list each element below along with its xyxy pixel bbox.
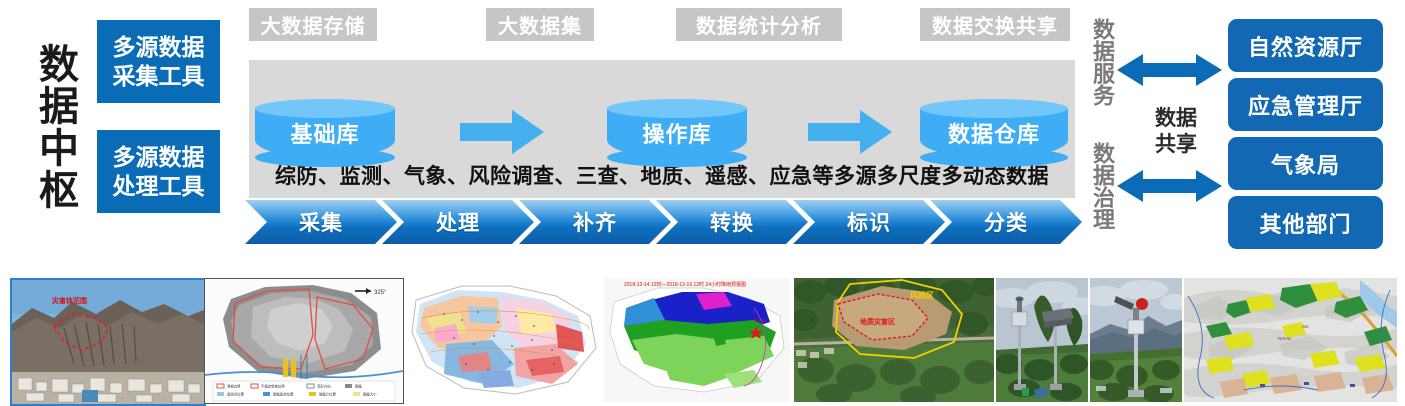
pipeline-step-4[interactable]: 转换 <box>656 200 808 244</box>
department-box-meteorology[interactable]: 气象局 <box>1228 137 1383 190</box>
side-label-data-governance: 数据治理 <box>1086 142 1116 262</box>
pipeline-step-6[interactable]: 分类 <box>930 200 1082 244</box>
svg-text:风险区: 风险区 <box>910 290 934 300</box>
flow-arrow-right-icon <box>460 110 544 154</box>
pipeline-step-2[interactable]: 处理 <box>382 200 534 244</box>
flow-arrow-right-icon <box>808 110 892 154</box>
database-cylinder-base[interactable]: 基础库 <box>255 99 395 167</box>
monitoring-station-photo-a[interactable] <box>996 278 1088 402</box>
pipeline-step-label: 分类 <box>930 200 1082 244</box>
section-chip-exchange: 数据交换共享 <box>920 8 1070 41</box>
monitoring-station-photo-b[interactable] <box>1090 278 1182 402</box>
data-share-label: 数据 共享 <box>1140 105 1212 157</box>
double-arrow-icon <box>1117 168 1222 204</box>
tool-box-process-label: 多源数据 处理工具 <box>113 143 205 201</box>
department-box-other[interactable]: 其他部门 <box>1228 196 1383 249</box>
department-box-natural-resources[interactable]: 自然资源厅 <box>1228 19 1383 72</box>
tool-box-process[interactable]: 多源数据 处理工具 <box>97 130 220 213</box>
pipeline-step-1[interactable]: 采集 <box>245 200 397 244</box>
database-cylinder-base-label: 基础库 <box>255 99 395 167</box>
svg-text:郑州市: 郑州市 <box>754 317 766 323</box>
pipeline-step-label: 处理 <box>382 200 534 244</box>
section-chip-dataset: 大数据集 <box>486 8 594 41</box>
section-chip-storage: 大数据存储 <box>249 8 377 41</box>
database-cylinder-warehouse-label: 数据仓库 <box>920 99 1068 167</box>
hazard-distribution-map[interactable] <box>406 278 602 402</box>
photo-caption: 灾害体范围 <box>52 296 87 306</box>
svg-text:监测点位置: 监测点位置 <box>227 392 245 397</box>
svg-text:不稳定斜坡边界: 不稳定斜坡边界 <box>261 384 285 389</box>
svg-text:地质灾害区: 地质灾害区 <box>860 317 895 326</box>
landslide-village-photo[interactable]: 灾害体范围 <box>10 278 206 406</box>
svg-text:NAHU: NAHU <box>1278 336 1291 341</box>
svg-text:AN: AN <box>1302 324 1308 329</box>
tool-box-collect[interactable]: 多源数据 采集工具 <box>97 20 220 103</box>
svg-text:裂缝计位置: 裂缝计位置 <box>319 392 337 397</box>
photo-strip: 灾害体范围 325° 滑坡 <box>0 278 1405 402</box>
pipeline-step-5[interactable]: 标识 <box>793 200 945 244</box>
department-box-emergency-management[interactable]: 应急管理厅 <box>1228 78 1383 131</box>
geohazard-susceptibility-map[interactable]: NAHU AN <box>1184 278 1397 402</box>
database-cylinder-ops[interactable]: 操作库 <box>607 99 747 167</box>
double-arrow-icon <box>1117 52 1222 88</box>
svg-text:325°: 325° <box>374 290 387 296</box>
svg-text:裂缝: 裂缝 <box>355 384 362 389</box>
database-cylinder-warehouse[interactable]: 数据仓库 <box>920 99 1068 167</box>
svg-text:滑坡边界: 滑坡边界 <box>227 384 241 389</box>
svg-text:裂缝监测位置: 裂缝监测位置 <box>273 392 294 397</box>
pipeline-chevron-band: 采集处理补齐转换标识分类 <box>245 200 1081 244</box>
svg-text:裂缝大小: 裂缝大小 <box>363 392 377 397</box>
hub-title: 数据中枢 <box>24 14 86 239</box>
database-cylinder-ops-label: 操作库 <box>607 99 747 167</box>
pipeline-step-3[interactable]: 补齐 <box>519 200 671 244</box>
side-label-data-service: 数据服务 <box>1086 18 1116 138</box>
section-chip-stats: 数据统计分析 <box>676 8 842 41</box>
pipeline-step-label: 补齐 <box>519 200 671 244</box>
pipeline-step-label: 采集 <box>245 200 397 244</box>
svg-text:变形方向: 变形方向 <box>317 384 331 389</box>
risk-zone-aerial-photo[interactable]: 风险区 地质灾害区 <box>794 278 994 402</box>
svg-text:2018-12-14 12时—2018-12-16 12时: 2018-12-14 12时—2018-12-16 12时 24小时降雨预报图 <box>624 281 746 288</box>
rainfall-forecast-map[interactable]: 郑州市 2018-12-14 12时—2018-12-16 12时 24小时降雨… <box>604 278 790 402</box>
tool-box-collect-label: 多源数据 采集工具 <box>113 33 205 91</box>
pipeline-step-label: 标识 <box>793 200 945 244</box>
diagram-canvas: 数据中枢 多源数据 采集工具 多源数据 处理工具 大数据存储 大数据集 数据统计… <box>0 0 1405 406</box>
pipeline-step-label: 转换 <box>656 200 808 244</box>
terrain-analysis-map[interactable]: 325° 滑坡边界 不稳定斜坡边界 变形方向 裂缝 监测点位置 裂缝监测位置 <box>204 278 404 404</box>
